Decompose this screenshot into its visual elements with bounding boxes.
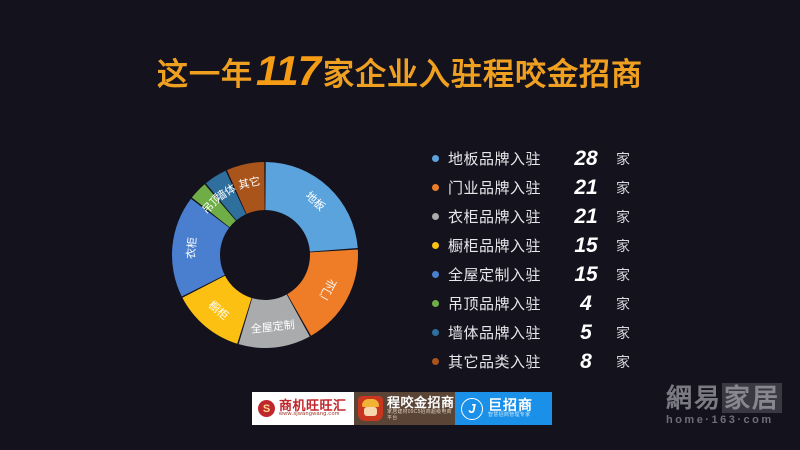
legend-value: 28 — [564, 147, 608, 171]
j-circle-icon: J — [461, 398, 483, 420]
donut-slice-地板[interactable] — [265, 162, 357, 252]
legend-label: 门业品牌入驻 — [448, 177, 564, 198]
legend-label: 地板品牌入驻 — [448, 148, 564, 169]
partner-logos: S 商机旺旺汇 www.sjwangwang.com 程咬金招商 家居建材09C… — [252, 392, 552, 425]
legend-color-dot — [432, 155, 439, 162]
title-prefix: 这一年 — [157, 57, 253, 92]
title-number: 117 — [253, 47, 323, 94]
legend-item[interactable]: 全屋定制入驻15家 — [432, 260, 762, 289]
legend-value: 15 — [564, 234, 608, 258]
legend-item[interactable]: 墙体品牌入驻5家 — [432, 318, 762, 347]
legend-unit: 家 — [616, 178, 630, 198]
legend-color-dot — [432, 271, 439, 278]
logo-subtext: www.sjwangwang.com — [279, 412, 347, 418]
donut-chart-svg: 地板门业全屋定制橱柜衣柜吊顶墙体其它 — [158, 148, 372, 362]
legend-item[interactable]: 地板品牌入驻28家 — [432, 144, 762, 173]
legend-item[interactable]: 橱柜品牌入驻15家 — [432, 231, 762, 260]
legend-value: 4 — [564, 292, 608, 316]
donut-chart: 地板门业全屋定制橱柜衣柜吊顶墙体其它 — [158, 148, 372, 362]
legend-value: 5 — [564, 321, 608, 345]
legend-value: 21 — [564, 205, 608, 229]
watermark-url: home·163·com — [666, 414, 782, 426]
logo-subtext: 智慧招商管理专家 — [488, 413, 533, 419]
legend-label: 墙体品牌入驻 — [448, 322, 564, 343]
legend-color-dot — [432, 329, 439, 336]
legend-label: 全屋定制入驻 — [448, 264, 564, 285]
legend-label: 吊顶品牌入驻 — [448, 293, 564, 314]
logo-name: 商机旺旺汇 — [279, 399, 347, 413]
legend-unit: 家 — [616, 265, 630, 285]
watermark: 網易家居 home·163·com — [666, 385, 782, 426]
legend-color-dot — [432, 213, 439, 220]
legend-unit: 家 — [616, 149, 630, 169]
legend-color-dot — [432, 184, 439, 191]
logo-chengyaojin-zhaoshang[interactable]: 程咬金招商 家居建材09C5招商超级电商平台 — [354, 392, 455, 425]
legend-label: 橱柜品牌入驻 — [448, 235, 564, 256]
legend-item[interactable]: 门业品牌入驻21家 — [432, 173, 762, 202]
watermark-brand-a: 網易 — [666, 383, 722, 413]
legend-value: 15 — [564, 263, 608, 287]
logo-subtext: 家居建材09C5招商超级电商平台 — [387, 410, 455, 421]
legend-unit: 家 — [616, 236, 630, 256]
legend-unit: 家 — [616, 294, 630, 314]
logo-ju-zhaoshang[interactable]: J 巨招商 智慧招商管理专家 — [455, 392, 552, 425]
legend-value: 8 — [564, 350, 608, 374]
legend-value: 21 — [564, 176, 608, 200]
page-title: 这一年117家企业入驻程咬金招商 — [0, 50, 800, 92]
legend-item[interactable]: 吊顶品牌入驻4家 — [432, 289, 762, 318]
legend-color-dot — [432, 300, 439, 307]
legend-label: 其它品类入驻 — [448, 351, 564, 372]
legend-unit: 家 — [616, 207, 630, 227]
logo-shangji-wangwanghui[interactable]: S 商机旺旺汇 www.sjwangwang.com — [252, 392, 354, 425]
watermark-brand: 網易家居 — [666, 385, 782, 412]
shangji-badge-icon: S — [258, 400, 275, 417]
watermark-brand-b: 家居 — [722, 383, 782, 413]
legend-label: 衣柜品牌入驻 — [448, 206, 564, 227]
legend-unit: 家 — [616, 352, 630, 372]
legend-item[interactable]: 衣柜品牌入驻21家 — [432, 202, 762, 231]
slide-canvas: 这一年117家企业入驻程咬金招商 地板门业全屋定制橱柜衣柜吊顶墙体其它 地板品牌… — [0, 0, 800, 450]
logo-name: 程咬金招商 — [387, 396, 455, 410]
legend-item[interactable]: 其它品类入驻8家 — [432, 347, 762, 376]
chart-legend: 地板品牌入驻28家门业品牌入驻21家衣柜品牌入驻21家橱柜品牌入驻15家全屋定制… — [432, 144, 762, 376]
legend-color-dot — [432, 358, 439, 365]
title-suffix: 家企业入驻程咬金招商 — [323, 57, 643, 92]
legend-unit: 家 — [616, 323, 630, 343]
legend-color-dot — [432, 242, 439, 249]
mascot-icon — [358, 396, 383, 421]
